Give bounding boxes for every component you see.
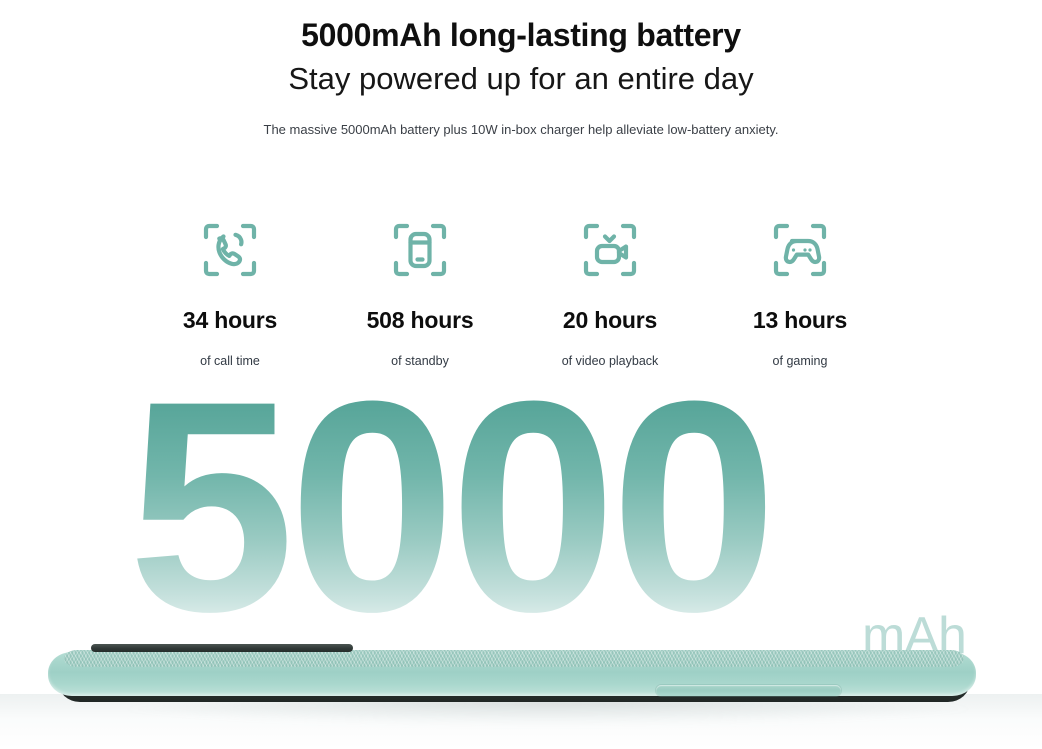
standby-phone-icon [325, 205, 515, 295]
header-block: 5000mAh long-lasting battery Stay powere… [0, 0, 1042, 139]
phone-call-icon [135, 205, 325, 295]
phone-back-panel [64, 650, 964, 667]
stat-item-call-time: 34 hours of call time [135, 205, 325, 368]
page-description: The massive 5000mAh battery plus 10W in-… [0, 97, 1042, 139]
stat-caption: of call time [135, 334, 325, 368]
stat-item-gaming: 13 hours of gaming [705, 205, 895, 368]
phone-shadow [108, 699, 988, 725]
stat-caption: of standby [325, 334, 515, 368]
video-camera-icon [515, 205, 705, 295]
phone-volume-button [656, 685, 841, 696]
stat-caption: of video playback [515, 334, 705, 368]
phone-product-image [48, 636, 978, 711]
stat-caption: of gaming [705, 334, 895, 368]
stat-value: 508 hours [325, 295, 515, 334]
stat-value: 20 hours [515, 295, 705, 334]
battery-stats-row: 34 hours of call time 508 hours of stand… [135, 205, 895, 368]
stat-item-standby: 508 hours of standby [325, 205, 515, 368]
gamepad-icon [705, 205, 895, 295]
stat-value: 34 hours [135, 295, 325, 334]
battery-feature-page: 5000mAh long-lasting battery Stay powere… [0, 0, 1042, 749]
hero-capacity-number: 5000 [128, 398, 771, 656]
stat-value: 13 hours [705, 295, 895, 334]
stat-item-video-playback: 20 hours of video playback [515, 205, 705, 368]
page-subtitle: Stay powered up for an entire day [0, 54, 1042, 97]
page-title: 5000mAh long-lasting battery [0, 0, 1042, 54]
phone-camera-module [91, 644, 353, 652]
